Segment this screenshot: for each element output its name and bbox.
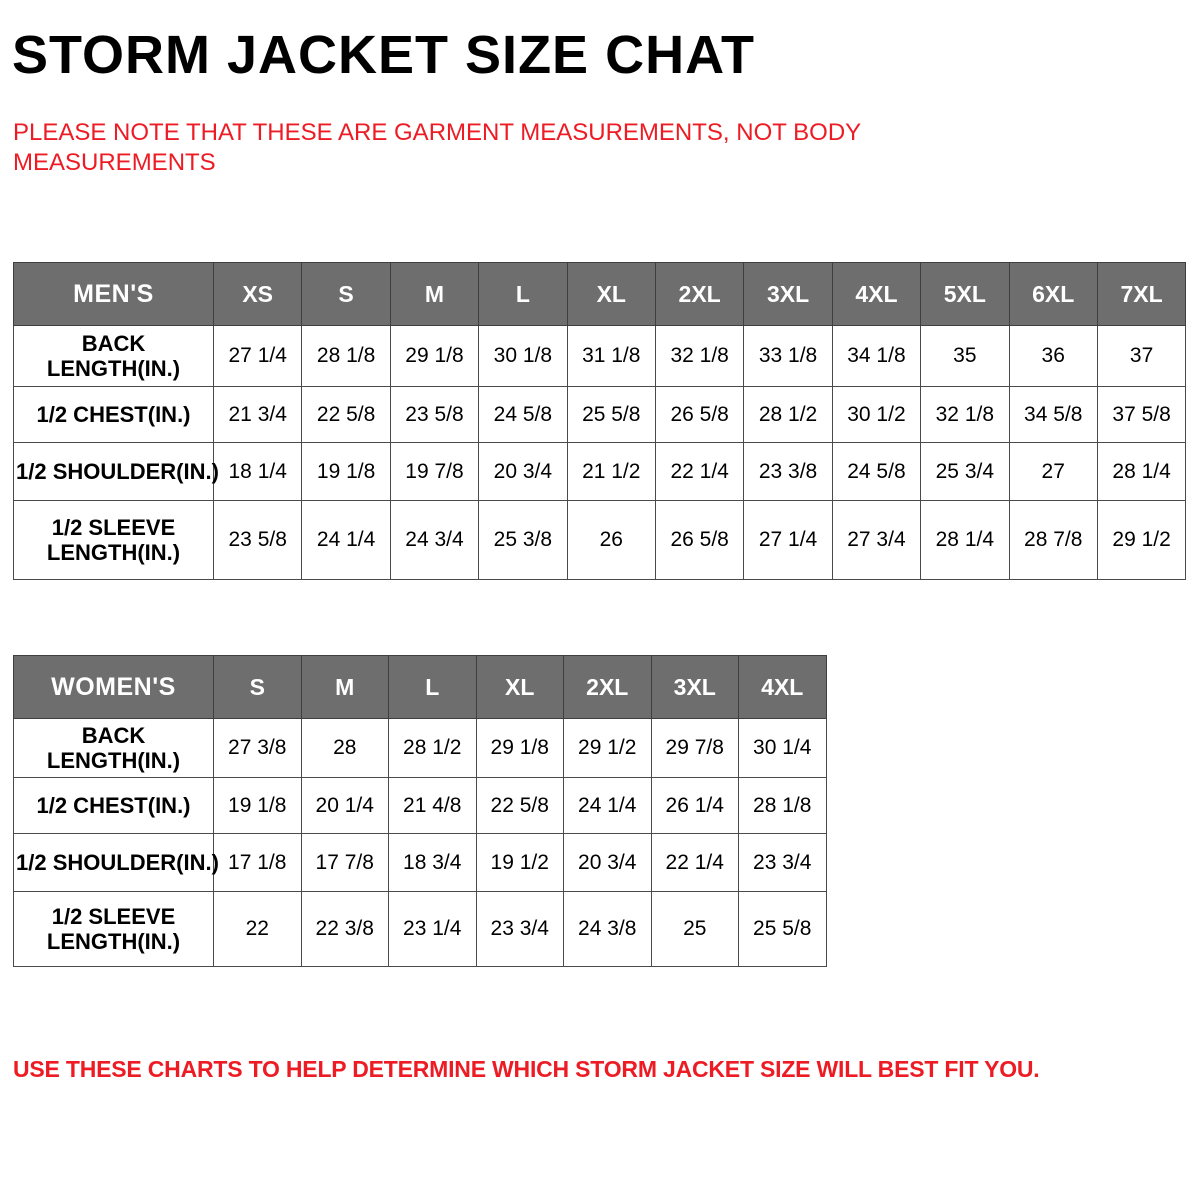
page-title: STORM JACKET SIZE CHAT [12,26,755,84]
measure-value: 25 5/8 [739,892,827,967]
table-row: BACKLENGTH(IN.)27 3/82828 1/229 1/829 1/… [14,719,827,778]
measure-value: 28 1/2 [389,719,477,778]
measure-value: 27 1/4 [214,326,302,387]
womens-size-header-2xl: 2XL [564,656,652,719]
mens-size-header-2xl: 2XL [655,263,743,326]
measure-value: 30 1/8 [479,326,567,387]
womens-header-row: WOMEN'SSMLXL2XL3XL4XL [14,656,827,719]
measure-value: 19 1/8 [214,778,302,834]
measure-label-line: 1/2 SHOULDER(IN.) [16,850,219,875]
measure-value: 29 1/8 [476,719,564,778]
measure-value: 24 5/8 [479,387,567,443]
table-row: 1/2 SHOULDER(IN.)18 1/419 1/819 7/820 3/… [14,443,1186,501]
measure-value: 18 3/4 [389,834,477,892]
measure-value: 37 5/8 [1097,387,1185,443]
measure-value: 28 1/4 [1097,443,1185,501]
womens-measure-label: 1/2 SLEEVELENGTH(IN.) [14,892,214,967]
mens-size-header-7xl: 7XL [1097,263,1185,326]
size-chart-page: STORM JACKET SIZE CHAT PLEASE NOTE THAT … [0,0,1200,1200]
womens-corner-label: WOMEN'S [14,656,214,719]
mens-size-header-l: L [479,263,567,326]
mens-size-header-xs: XS [214,263,302,326]
measure-value: 28 7/8 [1009,501,1097,580]
measure-value: 28 1/8 [739,778,827,834]
measure-value: 17 7/8 [301,834,389,892]
mens-measure-label: 1/2 SHOULDER(IN.) [14,443,214,501]
table-row: 1/2 SHOULDER(IN.)17 1/817 7/818 3/419 1/… [14,834,827,892]
womens-table-header: WOMEN'SSMLXL2XL3XL4XL [14,656,827,719]
measure-value: 21 4/8 [389,778,477,834]
womens-size-header-l: L [389,656,477,719]
measure-label-line: LENGTH(IN.) [47,540,180,565]
measure-value: 28 1/4 [921,501,1009,580]
measure-label-line: 1/2 SLEEVE [52,515,176,540]
measure-value: 29 7/8 [651,719,739,778]
measure-value: 37 [1097,326,1185,387]
measure-value: 26 [567,501,655,580]
measure-value: 29 1/2 [564,719,652,778]
measure-label-line: 1/2 SHOULDER(IN.) [16,459,219,484]
measure-value: 24 3/4 [390,501,478,580]
mens-measure-label: 1/2 SLEEVELENGTH(IN.) [14,501,214,580]
measure-value: 33 1/8 [744,326,832,387]
measure-value: 23 5/8 [214,501,302,580]
womens-size-header-xl: XL [476,656,564,719]
measure-value: 19 7/8 [390,443,478,501]
table-row: BACKLENGTH(IN.)27 1/428 1/829 1/830 1/83… [14,326,1186,387]
measure-value: 29 1/8 [390,326,478,387]
measure-value: 22 1/4 [651,834,739,892]
measure-label-line: 1/2 CHEST(IN.) [36,793,190,818]
mens-size-header-3xl: 3XL [744,263,832,326]
womens-size-header-s: S [214,656,302,719]
womens-measure-label: BACKLENGTH(IN.) [14,719,214,778]
measure-value: 28 1/8 [302,326,390,387]
measure-value: 26 5/8 [655,501,743,580]
measure-value: 21 3/4 [214,387,302,443]
womens-table-body: BACKLENGTH(IN.)27 3/82828 1/229 1/829 1/… [14,719,827,967]
measure-value: 24 5/8 [832,443,920,501]
measure-value: 32 1/8 [921,387,1009,443]
measure-label-line: LENGTH(IN.) [47,748,180,773]
measure-value: 23 5/8 [390,387,478,443]
measure-value: 25 3/4 [921,443,1009,501]
mens-size-header-s: S [302,263,390,326]
measure-value: 19 1/2 [476,834,564,892]
measure-value: 23 3/8 [744,443,832,501]
mens-size-header-4xl: 4XL [832,263,920,326]
mens-size-header-xl: XL [567,263,655,326]
use-charts-note: USE THESE CHARTS TO HELP DETERMINE WHICH… [13,1055,1173,1083]
womens-size-header-m: M [301,656,389,719]
womens-measure-label: 1/2 CHEST(IN.) [14,778,214,834]
measure-value: 22 5/8 [476,778,564,834]
measure-value: 23 3/4 [739,834,827,892]
measure-value: 23 1/4 [389,892,477,967]
measure-label-line: 1/2 CHEST(IN.) [36,402,190,427]
measure-value: 19 1/8 [302,443,390,501]
measure-value: 22 1/4 [655,443,743,501]
measure-value: 18 1/4 [214,443,302,501]
measure-value: 24 3/8 [564,892,652,967]
womens-measure-label: 1/2 SHOULDER(IN.) [14,834,214,892]
measure-label-line: BACK [82,331,146,356]
measure-value: 25 [651,892,739,967]
measure-value: 25 5/8 [567,387,655,443]
measure-value: 27 1/4 [744,501,832,580]
measure-value: 22 5/8 [302,387,390,443]
table-row: 1/2 CHEST(IN.)19 1/820 1/421 4/822 5/824… [14,778,827,834]
measure-value: 27 3/4 [832,501,920,580]
measure-value: 32 1/8 [655,326,743,387]
measure-value: 28 1/2 [744,387,832,443]
mens-size-header-5xl: 5XL [921,263,1009,326]
mens-size-header-m: M [390,263,478,326]
womens-size-header-3xl: 3XL [651,656,739,719]
measure-value: 34 1/8 [832,326,920,387]
measure-label-line: LENGTH(IN.) [47,356,180,381]
measure-label-line: 1/2 SLEEVE [52,904,176,929]
mens-size-table: MEN'SXSSMLXL2XL3XL4XL5XL6XL7XL BACKLENGT… [13,262,1186,580]
garment-measurement-note: PLEASE NOTE THAT THESE ARE GARMENT MEASU… [13,118,973,178]
measure-value: 21 1/2 [567,443,655,501]
measure-value: 30 1/2 [832,387,920,443]
mens-measure-label: 1/2 CHEST(IN.) [14,387,214,443]
mens-corner-label: MEN'S [14,263,214,326]
measure-value: 23 3/4 [476,892,564,967]
measure-value: 22 3/8 [301,892,389,967]
table-row: 1/2 SLEEVELENGTH(IN.)2222 3/823 1/423 3/… [14,892,827,967]
measure-value: 20 3/4 [564,834,652,892]
mens-size-header-6xl: 6XL [1009,263,1097,326]
measure-value: 27 [1009,443,1097,501]
measure-value: 17 1/8 [214,834,302,892]
table-row: 1/2 CHEST(IN.)21 3/422 5/823 5/824 5/825… [14,387,1186,443]
mens-table-header: MEN'SXSSMLXL2XL3XL4XL5XL6XL7XL [14,263,1186,326]
measure-value: 24 1/4 [564,778,652,834]
measure-value: 26 1/4 [651,778,739,834]
measure-value: 20 1/4 [301,778,389,834]
measure-value: 22 [214,892,302,967]
measure-value: 29 1/2 [1097,501,1185,580]
measure-value: 24 1/4 [302,501,390,580]
measure-value: 30 1/4 [739,719,827,778]
measure-value: 36 [1009,326,1097,387]
mens-table-body: BACKLENGTH(IN.)27 1/428 1/829 1/830 1/83… [14,326,1186,580]
womens-size-table: WOMEN'SSMLXL2XL3XL4XL BACKLENGTH(IN.)27 … [13,655,827,967]
measure-value: 35 [921,326,1009,387]
mens-measure-label: BACKLENGTH(IN.) [14,326,214,387]
measure-value: 27 3/8 [214,719,302,778]
measure-value: 31 1/8 [567,326,655,387]
measure-value: 25 3/8 [479,501,567,580]
mens-header-row: MEN'SXSSMLXL2XL3XL4XL5XL6XL7XL [14,263,1186,326]
measure-value: 20 3/4 [479,443,567,501]
measure-label-line: LENGTH(IN.) [47,929,180,954]
measure-label-line: BACK [82,723,146,748]
measure-value: 34 5/8 [1009,387,1097,443]
measure-value: 26 5/8 [655,387,743,443]
womens-size-header-4xl: 4XL [739,656,827,719]
table-row: 1/2 SLEEVELENGTH(IN.)23 5/824 1/424 3/42… [14,501,1186,580]
measure-value: 28 [301,719,389,778]
